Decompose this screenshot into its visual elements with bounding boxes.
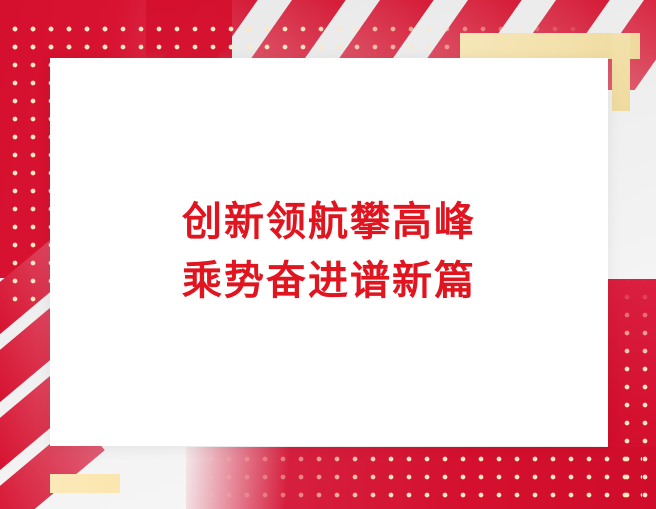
content-card: [50, 58, 608, 446]
gold-chip-accent: [50, 474, 120, 493]
gold-bracket-vertical-bar: [612, 33, 630, 111]
poster-canvas: 创新领航攀高峰 乘势奋进谱新篇: [0, 0, 656, 509]
bottom-right-dot-grid-horizontal: [190, 456, 642, 508]
bottom-right-dot-grid-vertical: [624, 276, 650, 508]
